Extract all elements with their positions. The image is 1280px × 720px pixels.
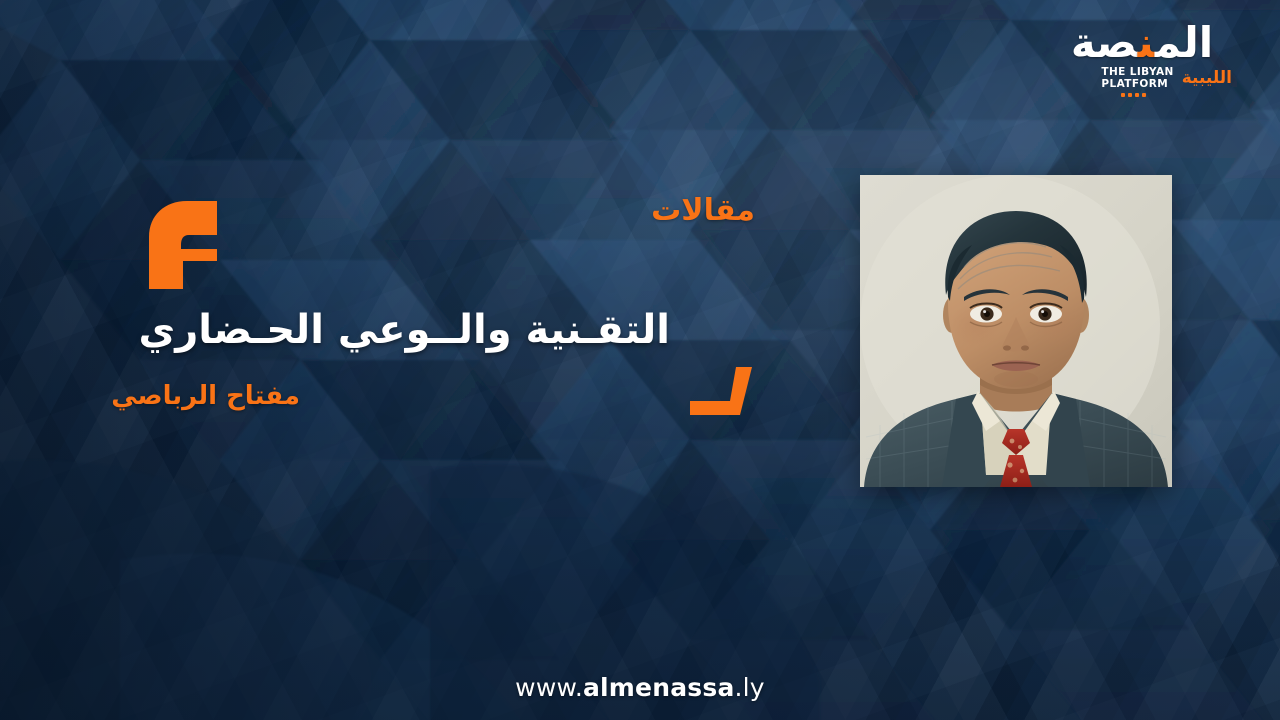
author-portrait-photo — [860, 175, 1172, 487]
url-prefix: www. — [515, 673, 583, 702]
quote-open-icon — [131, 199, 219, 289]
article-author-name[interactable]: مفتاح الرباصي — [111, 381, 300, 411]
footer-website-url[interactable]: www.almenassa.ly — [0, 673, 1280, 702]
article-category-label[interactable]: مقالات — [651, 193, 755, 228]
logo-subtitle-row: THE LIBYAN PLATFORM الليبية — [1052, 67, 1232, 91]
logo-english-line1: THE LIBYAN — [1101, 66, 1173, 78]
quote-close-icon — [690, 367, 752, 415]
logo-dots-decoration — [1052, 93, 1232, 97]
logo-english-name: THE LIBYAN PLATFORM — [1101, 67, 1173, 91]
logo-arabic-subtitle: الليبية — [1182, 70, 1232, 87]
article-headline: التقـنية والــوعي الحـضاري — [139, 307, 670, 353]
article-card: المنصة THE LIBYAN PLATFORM الليبية مقالا… — [0, 0, 1280, 720]
logo-english-line2: PLATFORM — [1101, 78, 1168, 90]
url-tld: .ly — [735, 673, 765, 702]
site-logo[interactable]: المنصة THE LIBYAN PLATFORM الليبية — [1052, 22, 1232, 97]
url-brand: almenassa — [583, 673, 735, 702]
logo-arabic-wordmark: المنصة — [1052, 22, 1232, 64]
